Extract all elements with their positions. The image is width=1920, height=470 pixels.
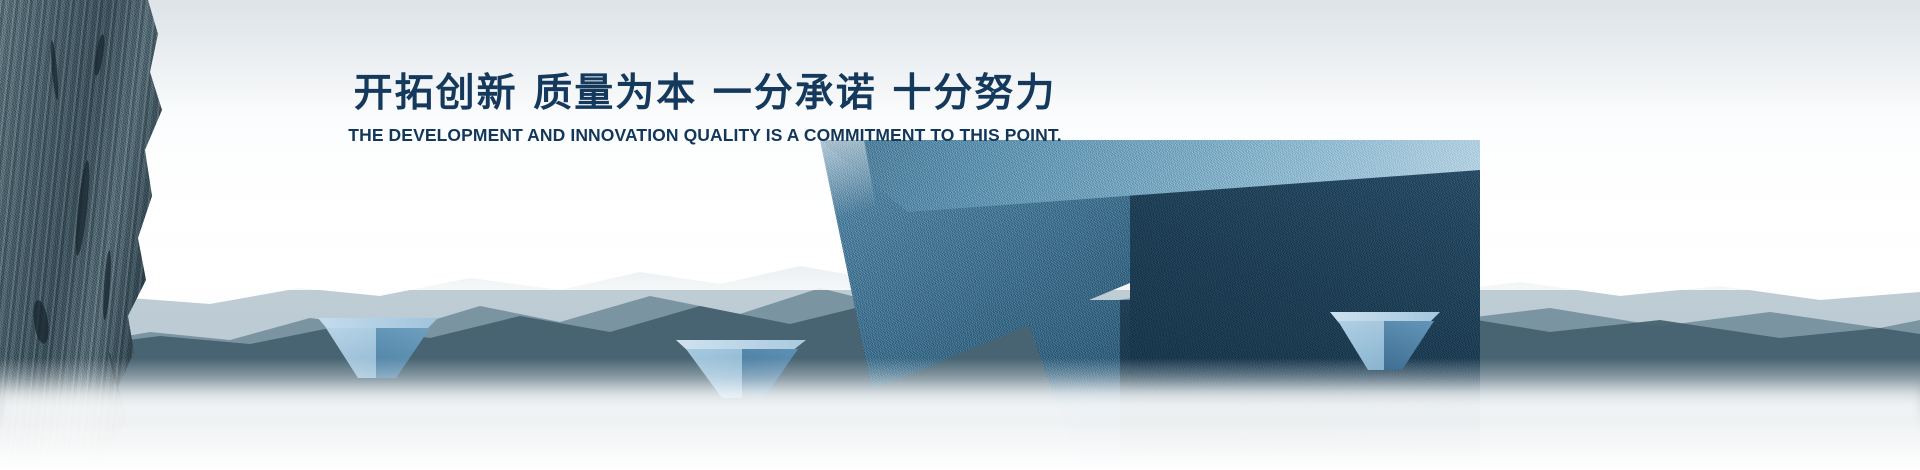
banner-text-block: 开拓创新 质量为本 一分承诺 十分努力 THE DEVELOPMENT AND … <box>0 72 1410 146</box>
pyramid-small-right <box>1330 312 1440 370</box>
hero-banner: 开拓创新 质量为本 一分承诺 十分努力 THE DEVELOPMENT AND … <box>0 0 1920 470</box>
banner-subheadline: THE DEVELOPMENT AND INNOVATION QUALITY I… <box>0 125 1410 146</box>
pyramid-small-right-left-face <box>1330 321 1388 370</box>
banner-headline: 开拓创新 质量为本 一分承诺 十分努力 <box>0 72 1410 116</box>
pyramid-small-right-right-face <box>1384 321 1440 370</box>
fog-ground <box>0 358 1920 470</box>
